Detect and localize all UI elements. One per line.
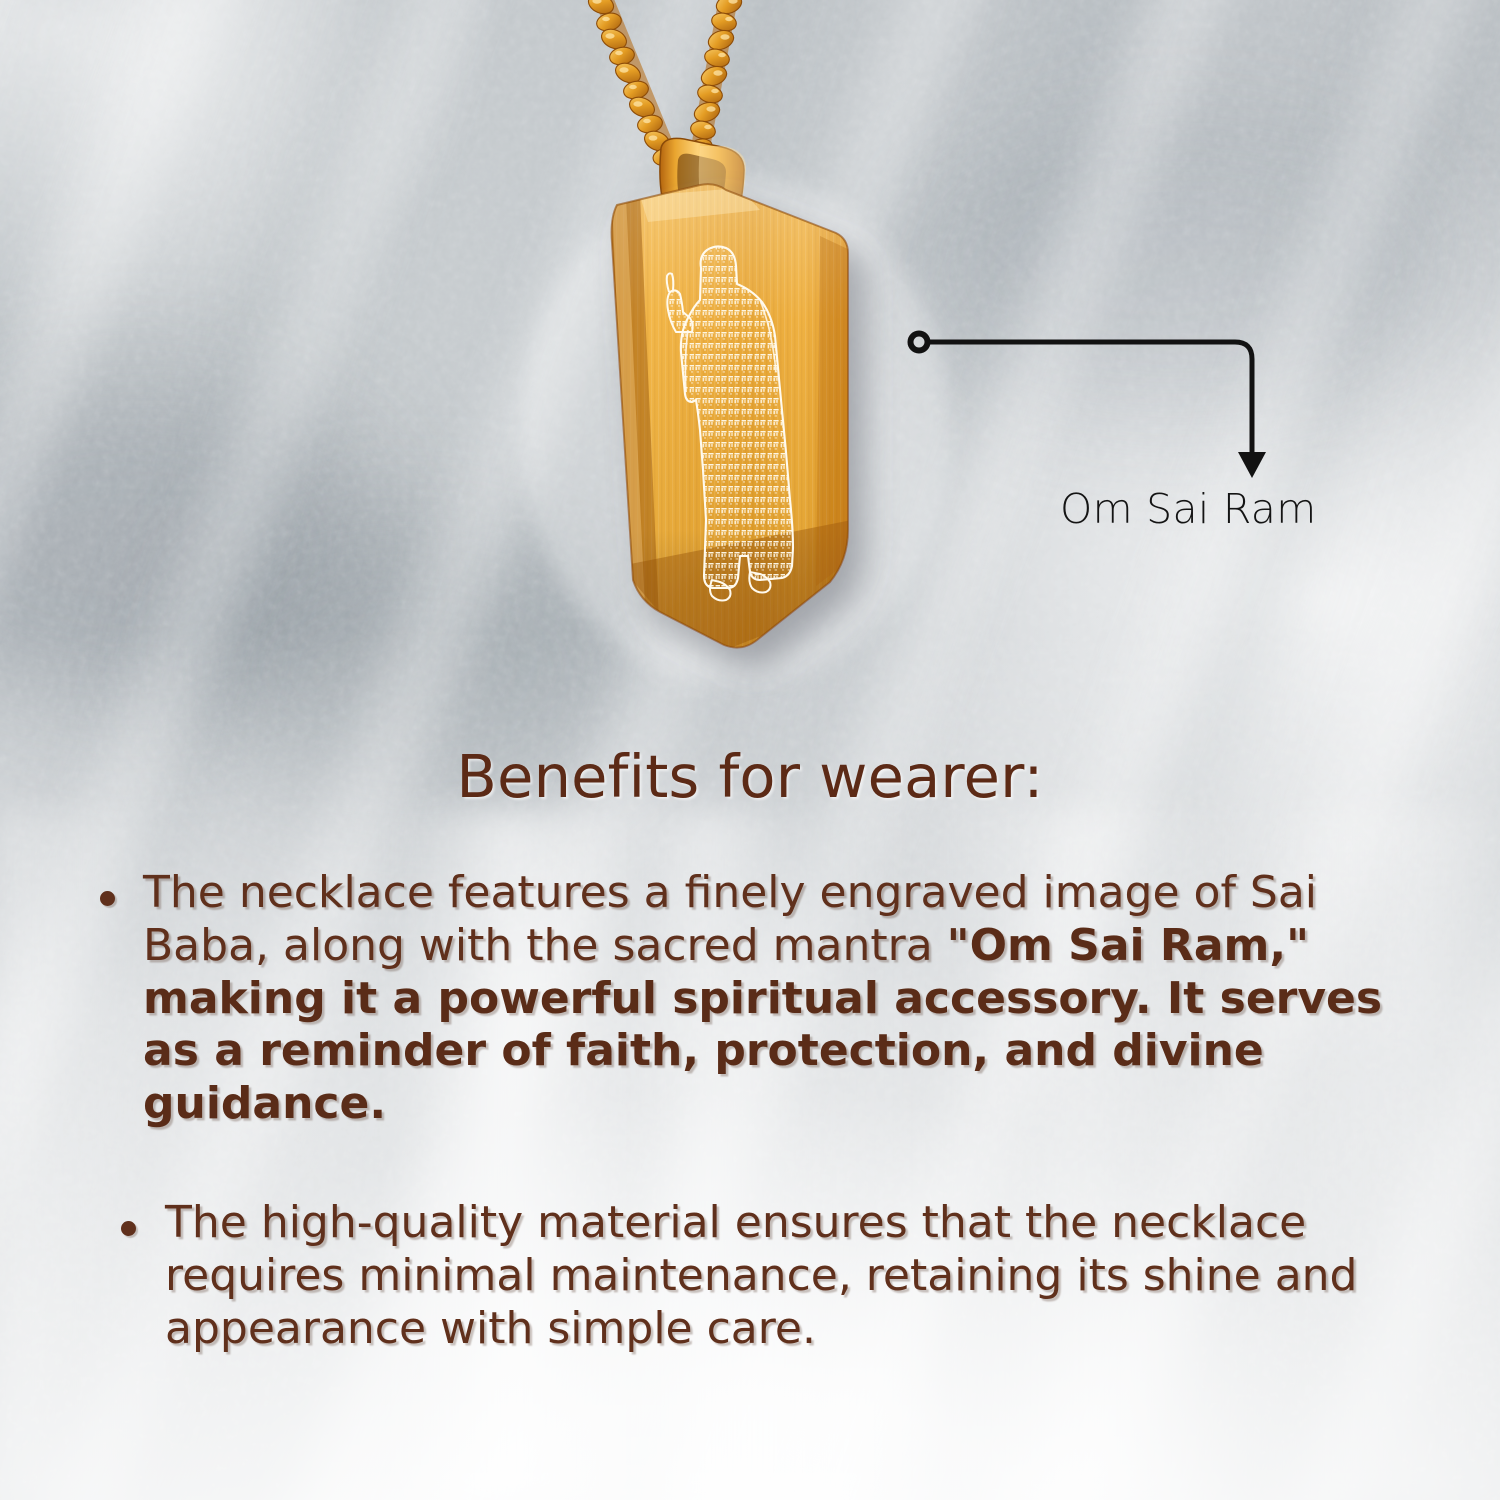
page-title: Benefits for wearer: [0, 742, 1500, 811]
bullet-dot-icon [100, 891, 115, 906]
arrow-down-icon [1238, 452, 1266, 478]
list-item: The high-quality material ensures that t… [0, 1197, 1500, 1355]
benefits-list: The necklace features a finely engraved … [0, 867, 1500, 1355]
benefits-section: Benefits for wearer: The necklace featur… [0, 742, 1500, 1355]
bullet-2-lead: The high-quality material ensures that t… [165, 1197, 1358, 1354]
product-infographic: Om Sai Ram Benefits for wearer: The neck… [0, 0, 1500, 1500]
callout-anchor-dot [911, 334, 928, 351]
bullet-dot-icon [121, 1221, 136, 1236]
annotation-callout [900, 318, 1300, 493]
list-item: The necklace features a finely engraved … [0, 867, 1500, 1131]
annotation-label: Om Sai Ram [1060, 485, 1316, 533]
callout-leader-line [928, 342, 1252, 454]
